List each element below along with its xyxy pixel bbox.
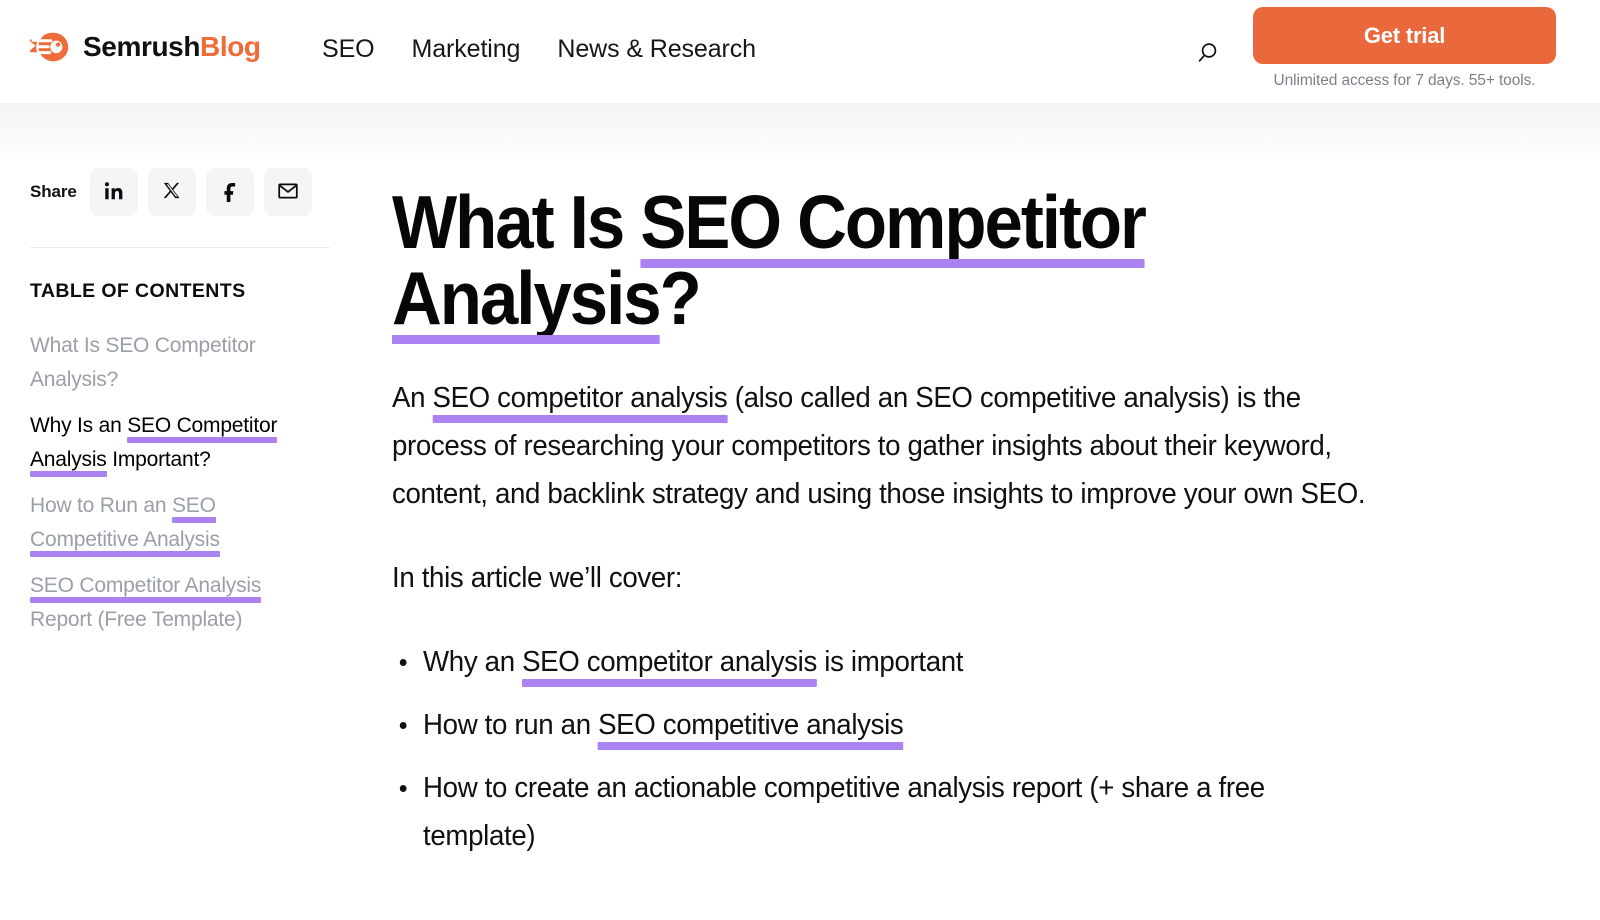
paragraph-text: An [392, 382, 432, 414]
search-icon[interactable] [1192, 38, 1222, 68]
get-trial-button[interactable]: Get trial [1253, 7, 1556, 64]
site-header: SemrushBlog SEO Marketing News & Researc… [0, 0, 1600, 103]
toc-item-seo-competitor-analysis-report[interactable]: SEO Competitor Analysis Report (Free Tem… [30, 569, 306, 637]
toc-highlight: SEO Competitor Analysis [30, 574, 261, 597]
brand-name: Semrush [83, 31, 200, 62]
table-of-contents-title: TABLE OF CONTENTS [30, 280, 340, 303]
toc-item-why-is-an-seo-competitor-analysis-important[interactable]: Why Is an SEO Competitor Analysis Import… [30, 409, 306, 477]
list-item: How to create an actionable competitive … [423, 764, 1372, 860]
title-text: ? [660, 256, 700, 340]
bullet-highlight: SEO competitive analysis [598, 709, 903, 741]
list-item: Why an SEO competitor analysis is import… [423, 638, 1372, 686]
article-bullet-list: Why an SEO competitor analysis is import… [392, 638, 1372, 860]
bullet-text: Why an [423, 646, 522, 678]
toc-item-what-is-seo-competitor-analysis[interactable]: What Is SEO Competitor Analysis? [30, 329, 306, 397]
intro-paragraph: An SEO competitor analysis (also called … [392, 374, 1372, 518]
brand-wordmark: SemrushBlog [83, 33, 261, 61]
list-item: How to run an SEO competitive analysis [423, 701, 1372, 749]
toc-highlight: Analysis [30, 448, 107, 471]
toc-item-label: What Is SEO Competitor Analysis? [30, 334, 256, 391]
sidebar-divider [30, 247, 330, 248]
share-label: Share [30, 182, 77, 202]
cover-intro-paragraph: In this article we’ll cover: [392, 554, 1372, 602]
table-of-contents-list: What Is SEO Competitor Analysis? Why Is … [30, 329, 340, 637]
semrush-comet-logo-icon [30, 30, 70, 64]
bullet-text: How to run an [423, 709, 598, 741]
x-icon [162, 181, 182, 204]
article-content: What Is SEO Competitor Analysis? An SEO … [392, 160, 1402, 875]
page-title: What Is SEO Competitor Analysis? [392, 184, 1146, 336]
page-body: Share [0, 160, 1600, 920]
linkedin-icon [103, 180, 125, 205]
toc-highlight: Competitive Analysis [30, 528, 220, 551]
cta-subtext: Unlimited access for 7 days. 55+ tools. [1274, 72, 1536, 90]
title-highlight: SEO Competitor [640, 180, 1145, 264]
email-icon [277, 180, 299, 205]
share-facebook-button[interactable] [206, 168, 254, 216]
toc-item-how-to-run-an-seo-competitive-analysis[interactable]: How to Run an SEO Competitive Analysis [30, 489, 306, 557]
toc-highlight: SEO [172, 494, 216, 517]
toc-highlight: SEO Competitor [127, 414, 277, 437]
title-text: What Is [392, 180, 640, 264]
header-gradient-strip [0, 103, 1600, 160]
share-linkedin-button[interactable] [90, 168, 138, 216]
bullet-highlight: SEO competitor analysis [522, 646, 817, 678]
nav-item-news-research[interactable]: News & Research [557, 35, 756, 64]
facebook-icon [220, 180, 240, 205]
bullet-text: How to create an actionable competitive … [423, 772, 1265, 852]
article-sidebar: Share [30, 160, 340, 649]
cta-container: Get trial Unlimited access for 7 days. 5… [1253, 7, 1556, 90]
title-highlight: Analysis [392, 256, 660, 340]
nav-item-marketing[interactable]: Marketing [412, 35, 521, 64]
main-nav: SEO Marketing News & Research [322, 35, 756, 64]
paragraph-highlight: SEO competitor analysis [432, 382, 727, 414]
bullet-text: is important [817, 646, 963, 678]
share-email-button[interactable] [264, 168, 312, 216]
share-row: Share [30, 168, 340, 216]
brand-suffix: Blog [200, 31, 261, 62]
brand-logo-link[interactable]: SemrushBlog [30, 30, 261, 64]
nav-item-seo[interactable]: SEO [322, 35, 375, 64]
share-x-button[interactable] [148, 168, 196, 216]
